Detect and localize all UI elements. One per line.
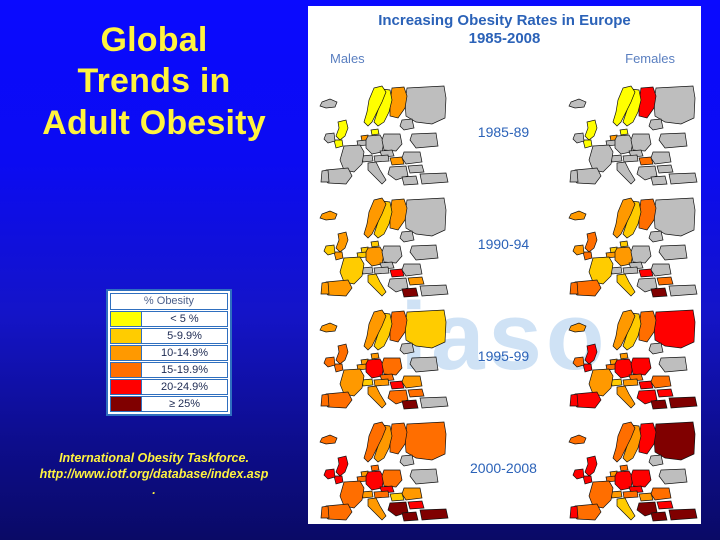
map-country-baltics xyxy=(649,119,663,130)
legend-swatch xyxy=(110,311,142,327)
map-country-ireland xyxy=(324,245,335,255)
map-country-turkey xyxy=(420,509,448,520)
map-country-turkey xyxy=(669,173,697,184)
map-country-ukraine xyxy=(410,133,438,148)
legend-label: 20-24.9% xyxy=(142,379,228,395)
map-country-baltics xyxy=(400,343,414,354)
map-country-bulgaria xyxy=(657,501,673,509)
map-country-bulgaria xyxy=(408,165,424,173)
legend-row: ≥ 25% xyxy=(110,396,228,412)
map-country-russia xyxy=(654,86,695,124)
europe-choropleth-map xyxy=(561,190,701,298)
map-cell-females-1990-94 xyxy=(561,190,701,298)
map-country-turkey xyxy=(669,509,697,520)
map-country-poland xyxy=(631,134,651,151)
map-country-finland xyxy=(639,311,656,342)
map-country-italy xyxy=(617,498,635,520)
map-country-baltics xyxy=(649,231,663,242)
year-label: 1990-94 xyxy=(452,236,555,252)
source-url: http://www.iotf.org/database/index.asp xyxy=(6,466,302,482)
map-country-uk xyxy=(583,344,597,372)
map-country-portugal xyxy=(321,394,329,406)
map-country-bulgaria xyxy=(657,165,673,173)
map-country-finland xyxy=(390,87,407,118)
map-country-austria xyxy=(623,379,638,386)
map-country-uk xyxy=(583,232,597,260)
map-country-portugal xyxy=(321,170,329,182)
map-country-baltics xyxy=(400,231,414,242)
source-organisation: International Obesity Taskforce. xyxy=(6,450,302,466)
map-country-bulgaria xyxy=(657,277,673,285)
map-cell-females-1995-99 xyxy=(561,302,701,410)
map-cell-males-2000-2008 xyxy=(312,414,452,522)
map-cell-females-2000-2008 xyxy=(561,414,701,522)
presentation-slide: Global Trends in Adult Obesity % Obesity… xyxy=(0,0,720,540)
map-country-france xyxy=(340,257,364,284)
map-country-romania xyxy=(402,152,422,164)
legend-label: 15-19.9% xyxy=(142,362,228,378)
map-country-romania xyxy=(651,152,671,164)
obesity-legend: % Obesity < 5 %5-9.9%10-14.9%15-19.9%20-… xyxy=(106,289,232,416)
map-country-poland xyxy=(382,470,402,487)
map-country-bulgaria xyxy=(408,277,424,285)
legend-row: < 5 % xyxy=(110,311,228,327)
legend-row: 10-14.9% xyxy=(110,345,228,361)
map-country-baltics xyxy=(649,455,663,466)
map-country-finland xyxy=(639,199,656,230)
map-country-denmark xyxy=(620,353,628,359)
legend-label: 10-14.9% xyxy=(142,345,228,361)
map-country-italy xyxy=(617,274,635,296)
legend-swatch xyxy=(110,362,142,378)
map-country-greece xyxy=(402,400,418,409)
map-grid: 1985-891990-941995-992000-2008 xyxy=(308,76,701,524)
legend-title: % Obesity xyxy=(110,293,228,310)
map-country-uk xyxy=(334,120,348,148)
map-cell-males-1985-89 xyxy=(312,78,452,186)
map-country-ukraine xyxy=(659,357,687,372)
map-country-turkey xyxy=(669,397,697,408)
column-label-females: Females xyxy=(625,51,675,66)
map-row: 1995-99 xyxy=(308,300,701,412)
panel-title-line-1: Increasing Obesity Rates in Europe xyxy=(308,12,701,30)
map-country-iceland xyxy=(320,99,337,108)
map-country-austria xyxy=(623,155,638,162)
map-country-bulgaria xyxy=(408,501,424,509)
map-row: 1990-94 xyxy=(308,188,701,300)
map-country-italy xyxy=(617,162,635,184)
map-country-poland xyxy=(631,470,651,487)
title-line-3: Adult Obesity xyxy=(6,103,302,144)
map-country-france xyxy=(340,481,364,508)
legend-swatch xyxy=(110,379,142,395)
map-country-greece xyxy=(402,512,418,521)
europe-choropleth-map xyxy=(312,78,452,186)
map-country-baltics xyxy=(649,343,663,354)
map-country-russia xyxy=(405,86,446,124)
map-country-finland xyxy=(390,199,407,230)
map-country-turkey xyxy=(420,173,448,184)
source-citation: International Obesity Taskforce. http://… xyxy=(6,450,302,498)
map-country-uk xyxy=(334,456,348,484)
map-country-poland xyxy=(382,246,402,263)
map-country-denmark xyxy=(371,353,379,359)
title-line-2: Trends in xyxy=(6,61,302,102)
map-country-turkey xyxy=(420,285,448,296)
map-country-ireland xyxy=(573,133,584,143)
map-country-baltics xyxy=(400,119,414,130)
map-country-russia xyxy=(405,422,446,460)
map-country-poland xyxy=(382,134,402,151)
map-country-finland xyxy=(390,311,407,342)
map-country-bulgaria xyxy=(408,389,424,397)
map-country-france xyxy=(589,481,613,508)
map-country-iceland xyxy=(569,99,586,108)
map-country-romania xyxy=(402,488,422,500)
map-country-iceland xyxy=(320,211,337,220)
map-country-baltics xyxy=(400,455,414,466)
map-country-portugal xyxy=(321,282,329,294)
map-country-greece xyxy=(402,288,418,297)
europe-choropleth-map xyxy=(561,302,701,410)
legend-rows: < 5 %5-9.9%10-14.9%15-19.9%20-24.9%≥ 25% xyxy=(110,311,228,412)
map-country-uk xyxy=(334,344,348,372)
map-country-uk xyxy=(583,120,597,148)
map-cell-males-1995-99 xyxy=(312,302,452,410)
map-country-romania xyxy=(402,264,422,276)
map-country-finland xyxy=(390,423,407,454)
column-label-males: Males xyxy=(330,51,365,66)
map-country-denmark xyxy=(371,129,379,135)
map-country-ireland xyxy=(324,357,335,367)
map-country-romania xyxy=(651,264,671,276)
map-country-ukraine xyxy=(659,245,687,260)
map-country-ireland xyxy=(573,357,584,367)
legend-swatch xyxy=(110,396,142,412)
legend-row: 20-24.9% xyxy=(110,379,228,395)
map-country-france xyxy=(589,145,613,172)
year-label: 1985-89 xyxy=(452,124,555,140)
europe-choropleth-map xyxy=(312,414,452,522)
map-country-iceland xyxy=(569,323,586,332)
map-country-italy xyxy=(368,386,386,408)
map-country-finland xyxy=(639,87,656,118)
map-country-ukraine xyxy=(659,133,687,148)
map-country-russia xyxy=(405,198,446,236)
map-cell-males-1990-94 xyxy=(312,190,452,298)
europe-choropleth-map xyxy=(561,78,701,186)
map-country-austria xyxy=(374,267,389,274)
map-country-greece xyxy=(402,176,418,185)
map-country-greece xyxy=(651,288,667,297)
europe-maps-panel: Increasing Obesity Rates in Europe 1985-… xyxy=(308,6,701,524)
map-country-finland xyxy=(639,423,656,454)
map-country-romania xyxy=(402,376,422,388)
legend-label: < 5 % xyxy=(142,311,228,327)
map-country-ukraine xyxy=(410,469,438,484)
map-country-greece xyxy=(651,512,667,521)
map-country-denmark xyxy=(620,465,628,471)
map-country-poland xyxy=(382,358,402,375)
map-row: 2000-2008 xyxy=(308,412,701,524)
legend-swatch xyxy=(110,328,142,344)
map-country-greece xyxy=(651,176,667,185)
map-country-austria xyxy=(623,267,638,274)
map-country-turkey xyxy=(420,397,448,408)
map-country-france xyxy=(589,369,613,396)
panel-title: Increasing Obesity Rates in Europe 1985-… xyxy=(308,12,701,47)
map-country-uk xyxy=(583,456,597,484)
map-country-france xyxy=(589,257,613,284)
europe-choropleth-map xyxy=(312,302,452,410)
panel-title-line-2: 1985-2008 xyxy=(308,30,701,48)
map-country-russia xyxy=(405,310,446,348)
year-label: 2000-2008 xyxy=(452,460,555,476)
map-country-portugal xyxy=(570,506,578,518)
map-row: 1985-89 xyxy=(308,76,701,188)
map-country-russia xyxy=(654,310,695,348)
map-country-iceland xyxy=(569,435,586,444)
europe-choropleth-map xyxy=(312,190,452,298)
map-country-russia xyxy=(654,198,695,236)
title-line-1: Global xyxy=(6,20,302,61)
year-label: 1995-99 xyxy=(452,348,555,364)
map-country-poland xyxy=(631,246,651,263)
map-country-ukraine xyxy=(410,245,438,260)
page-title: Global Trends in Adult Obesity xyxy=(6,20,302,144)
map-country-iceland xyxy=(320,323,337,332)
legend-row: 15-19.9% xyxy=(110,362,228,378)
map-country-denmark xyxy=(620,129,628,135)
legend-swatch xyxy=(110,345,142,361)
map-country-romania xyxy=(651,376,671,388)
map-country-france xyxy=(340,145,364,172)
source-trailing-period: . xyxy=(6,482,302,498)
map-country-italy xyxy=(368,162,386,184)
map-country-italy xyxy=(368,498,386,520)
map-country-iceland xyxy=(320,435,337,444)
map-country-austria xyxy=(374,155,389,162)
map-country-denmark xyxy=(371,465,379,471)
map-country-denmark xyxy=(620,241,628,247)
map-country-greece xyxy=(651,400,667,409)
map-country-austria xyxy=(374,379,389,386)
map-country-portugal xyxy=(570,282,578,294)
map-country-turkey xyxy=(669,285,697,296)
map-country-uk xyxy=(334,232,348,260)
map-cell-females-1985-89 xyxy=(561,78,701,186)
map-country-portugal xyxy=(570,394,578,406)
map-country-iceland xyxy=(569,211,586,220)
map-country-ireland xyxy=(573,245,584,255)
map-country-ireland xyxy=(324,133,335,143)
map-country-austria xyxy=(374,491,389,498)
map-country-ukraine xyxy=(659,469,687,484)
map-country-ukraine xyxy=(410,357,438,372)
map-country-ireland xyxy=(573,469,584,479)
map-country-austria xyxy=(623,491,638,498)
map-country-denmark xyxy=(371,241,379,247)
legend-row: 5-9.9% xyxy=(110,328,228,344)
map-country-bulgaria xyxy=(657,389,673,397)
map-country-ireland xyxy=(324,469,335,479)
map-country-france xyxy=(340,369,364,396)
map-country-romania xyxy=(651,488,671,500)
map-country-portugal xyxy=(321,506,329,518)
map-country-russia xyxy=(654,422,695,460)
map-country-italy xyxy=(617,386,635,408)
legend-label: ≥ 25% xyxy=(142,396,228,412)
map-country-poland xyxy=(631,358,651,375)
legend-label: 5-9.9% xyxy=(142,328,228,344)
europe-choropleth-map xyxy=(561,414,701,522)
map-country-italy xyxy=(368,274,386,296)
map-country-portugal xyxy=(570,170,578,182)
